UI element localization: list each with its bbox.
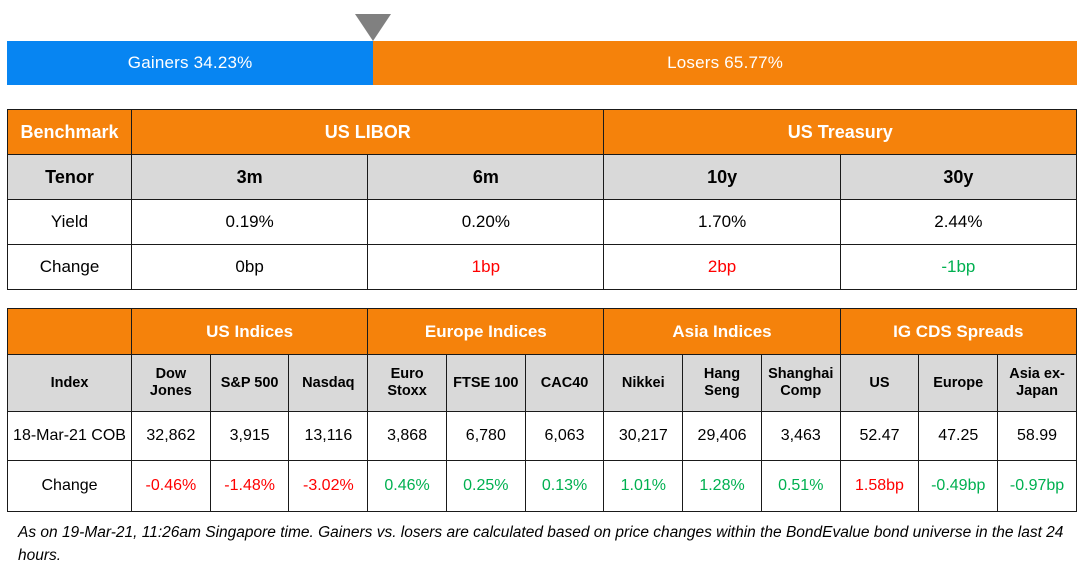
tenor-header-row: Tenor3m6m10y30y	[8, 155, 1077, 200]
cell-18-mar-21-cob-hang-seng: 29,406	[683, 412, 762, 461]
cell-18-mar-21-cob-europe: 47.25	[919, 412, 998, 461]
indices-corner-label: Index	[8, 355, 132, 412]
cell-18-mar-21-cob-dow-jones: 32,862	[132, 412, 211, 461]
table-row: 18-Mar-21 COB32,8623,91513,1163,8686,780…	[8, 412, 1077, 461]
split-marker-row	[7, 8, 1077, 41]
cell-change-hang-seng: 1.28%	[683, 461, 762, 512]
indices-col-asia-ex-japan: Asia ex-Japan	[998, 355, 1077, 412]
tenor-col-3m: 3m	[132, 155, 368, 200]
cell-yield-30y: 2.44%	[840, 200, 1076, 245]
cell-change-us: 1.58bp	[840, 461, 919, 512]
tenor-col-30y: 30y	[840, 155, 1076, 200]
cell-18-mar-21-cob-euro-stoxx: 3,868	[368, 412, 447, 461]
cell-yield-10y: 1.70%	[604, 200, 840, 245]
gainers-label: Gainers 34.23%	[128, 53, 253, 73]
indices-cds-table: US IndicesEurope IndicesAsia IndicesIG C…	[7, 308, 1077, 512]
cell-change-dow-jones: -0.46%	[132, 461, 211, 512]
sentiment-bar: Gainers 34.23% Losers 65.77%	[7, 41, 1077, 85]
market-summary-page: Gainers 34.23% Losers 65.77% BenchmarkUS…	[0, 0, 1088, 576]
split-marker-triangle-icon	[355, 14, 391, 41]
indices-col-ftse-100: FTSE 100	[446, 355, 525, 412]
benchmark-group-header-row: BenchmarkUS LIBORUS Treasury	[8, 110, 1077, 155]
cell-18-mar-21-cob-nikkei: 30,217	[604, 412, 683, 461]
cell-change-nasdaq: -3.02%	[289, 461, 368, 512]
indices-col-nasdaq: Nasdaq	[289, 355, 368, 412]
indices-group-asia-indices: Asia Indices	[604, 309, 840, 355]
cell-change-asia-ex-japan: -0.97bp	[998, 461, 1077, 512]
row-label-18-mar-21-cob: 18-Mar-21 COB	[8, 412, 132, 461]
indices-group-europe-indices: Europe Indices	[368, 309, 604, 355]
indices-col-shanghai-comp: Shanghai Comp	[761, 355, 840, 412]
tenor-row-label: Tenor	[8, 155, 132, 200]
losers-segment[interactable]: Losers 65.77%	[373, 41, 1077, 85]
indices-group-us-indices: US Indices	[132, 309, 368, 355]
footnote-text: As on 19-Mar-21, 11:26am Singapore time.…	[18, 521, 1068, 568]
cell-change-30y: -1bp	[840, 245, 1076, 290]
cell-change-euro-stoxx: 0.46%	[368, 461, 447, 512]
tenor-col-6m: 6m	[368, 155, 604, 200]
row-label-yield: Yield	[8, 200, 132, 245]
cell-18-mar-21-cob-nasdaq: 13,116	[289, 412, 368, 461]
tenor-col-10y: 10y	[604, 155, 840, 200]
cell-change-europe: -0.49bp	[919, 461, 998, 512]
cell-change-ftse-100: 0.25%	[446, 461, 525, 512]
indices-column-header-row: IndexDow JonesS&P 500NasdaqEuro StoxxFTS…	[8, 355, 1077, 412]
cell-change-nikkei: 1.01%	[604, 461, 683, 512]
gainers-segment[interactable]: Gainers 34.23%	[7, 41, 373, 85]
cell-change-shanghai-comp: 0.51%	[761, 461, 840, 512]
benchmark-corner-label: Benchmark	[8, 110, 132, 155]
row-label-change: Change	[8, 461, 132, 512]
cell-18-mar-21-cob-us: 52.47	[840, 412, 919, 461]
cell-change-3m: 0bp	[132, 245, 368, 290]
cell-18-mar-21-cob-s-p-500: 3,915	[210, 412, 289, 461]
table-row: Change-0.46%-1.48%-3.02%0.46%0.25%0.13%1…	[8, 461, 1077, 512]
cell-18-mar-21-cob-cac40: 6,063	[525, 412, 604, 461]
indices-group-ig-cds-spreads: IG CDS Spreads	[840, 309, 1076, 355]
indices-corner-blank	[8, 309, 132, 355]
indices-group-header-row: US IndicesEurope IndicesAsia IndicesIG C…	[8, 309, 1077, 355]
indices-col-us: US	[840, 355, 919, 412]
table-row: Yield0.19%0.20%1.70%2.44%	[8, 200, 1077, 245]
cell-yield-3m: 0.19%	[132, 200, 368, 245]
indices-col-hang-seng: Hang Seng	[683, 355, 762, 412]
table-row: Change0bp1bp2bp-1bp	[8, 245, 1077, 290]
benchmark-group-us-libor: US LIBOR	[132, 110, 604, 155]
benchmark-rates-table: BenchmarkUS LIBORUS TreasuryTenor3m6m10y…	[7, 109, 1077, 290]
losers-label: Losers 65.77%	[667, 53, 783, 73]
row-label-change: Change	[8, 245, 132, 290]
indices-col-euro-stoxx: Euro Stoxx	[368, 355, 447, 412]
indices-col-dow-jones: Dow Jones	[132, 355, 211, 412]
cell-change-cac40: 0.13%	[525, 461, 604, 512]
cell-18-mar-21-cob-asia-ex-japan: 58.99	[998, 412, 1077, 461]
gainers-losers-widget: Gainers 34.23% Losers 65.77%	[7, 8, 1077, 86]
cell-change-s-p-500: -1.48%	[210, 461, 289, 512]
cell-18-mar-21-cob-shanghai-comp: 3,463	[761, 412, 840, 461]
indices-col-s-p-500: S&P 500	[210, 355, 289, 412]
indices-col-europe: Europe	[919, 355, 998, 412]
indices-col-cac40: CAC40	[525, 355, 604, 412]
cell-change-6m: 1bp	[368, 245, 604, 290]
cell-change-10y: 2bp	[604, 245, 840, 290]
benchmark-group-us-treasury: US Treasury	[604, 110, 1077, 155]
indices-col-nikkei: Nikkei	[604, 355, 683, 412]
cell-yield-6m: 0.20%	[368, 200, 604, 245]
cell-18-mar-21-cob-ftse-100: 6,780	[446, 412, 525, 461]
